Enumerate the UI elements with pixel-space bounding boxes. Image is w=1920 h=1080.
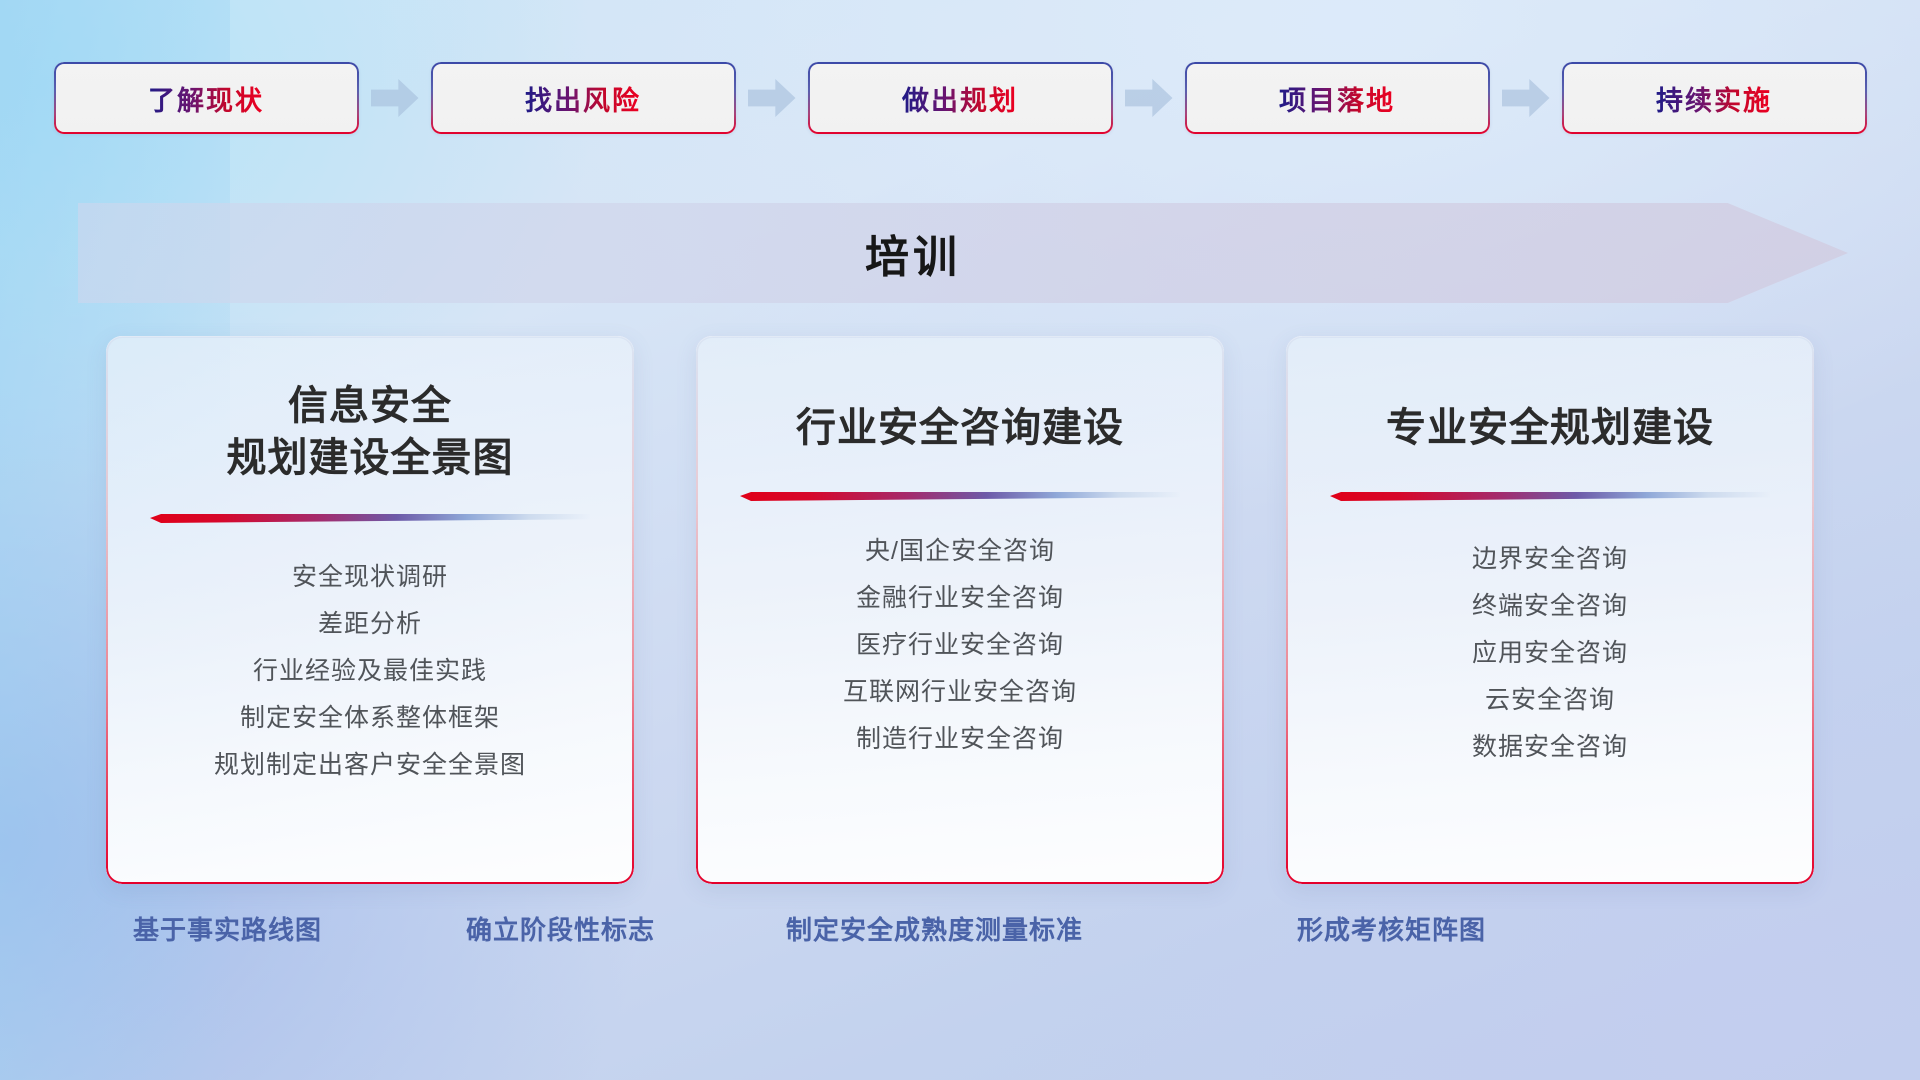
card-divider: [740, 492, 1180, 501]
card-item-list: 安全现状调研 差距分析 行业经验及最佳实践 制定安全体系整体框架 规划制定出客户…: [214, 557, 526, 781]
list-item: 央/国企安全咨询: [865, 531, 1055, 567]
card-item-list: 央/国企安全咨询 金融行业安全咨询 医疗行业安全咨询 互联网行业安全咨询 制造行…: [843, 531, 1077, 755]
arrow-right-icon: [371, 79, 419, 117]
arrow-right-icon: [748, 79, 796, 117]
list-item: 云安全咨询: [1485, 680, 1615, 716]
process-step-label: 持续实施: [1656, 79, 1772, 118]
list-item: 行业经验及最佳实践: [253, 651, 487, 687]
card-title: 行业安全咨询建设: [796, 402, 1124, 454]
card-title: 专业安全规划建设: [1386, 402, 1714, 454]
list-item: 差距分析: [318, 604, 422, 640]
card-group: 信息安全 规划建设全景图 安全现状调研 差距分析 行业经验及最佳实践 制定安全体…: [0, 336, 1920, 884]
content-card-2[interactable]: 行业安全咨询建设 央/国企安全咨询 金融行业安全咨询 医疗行业安全咨询 互联网行…: [696, 336, 1224, 884]
footer-caption: 基于事实路线图: [133, 910, 322, 947]
content-card-1[interactable]: 信息安全 规划建设全景图 安全现状调研 差距分析 行业经验及最佳实践 制定安全体…: [106, 336, 634, 884]
slide-canvas: 了解现状 找出风险 做出规划 项目落地 持续实施 培训 信息安全 规划建设全景图…: [0, 0, 1920, 1080]
list-item: 边界安全咨询: [1472, 539, 1628, 575]
card-item-list: 边界安全咨询 终端安全咨询 应用安全咨询 云安全咨询 数据安全咨询: [1472, 539, 1628, 763]
list-item: 安全现状调研: [292, 557, 448, 593]
list-item: 数据安全咨询: [1472, 727, 1628, 763]
arrow-right-icon: [1502, 79, 1550, 117]
process-step-label: 找出风险: [525, 79, 641, 118]
footer-caption: 确立阶段性标志: [466, 910, 655, 947]
process-step-label: 了解现状: [148, 79, 264, 118]
list-item: 互联网行业安全咨询: [843, 672, 1077, 708]
list-item: 金融行业安全咨询: [856, 578, 1064, 614]
footer-caption: 形成考核矩阵图: [1297, 910, 1486, 947]
process-step-strip: 了解现状 找出风险 做出规划 项目落地 持续实施: [0, 58, 1920, 138]
list-item: 医疗行业安全咨询: [856, 625, 1064, 661]
list-item: 终端安全咨询: [1472, 586, 1628, 622]
process-step-1[interactable]: 了解现状: [54, 62, 359, 134]
arrow-right-icon: [1125, 79, 1173, 117]
training-banner: 培训: [78, 203, 1848, 303]
card-divider: [150, 514, 590, 523]
list-item: 应用安全咨询: [1472, 633, 1628, 669]
list-item: 规划制定出客户安全全景图: [214, 745, 526, 781]
card-title: 信息安全 规划建设全景图: [227, 380, 514, 484]
process-step-2[interactable]: 找出风险: [431, 62, 736, 134]
footer-caption: 制定安全成熟度测量标准: [786, 910, 1083, 947]
list-item: 制定安全体系整体框架: [240, 698, 500, 734]
process-step-5[interactable]: 持续实施: [1562, 62, 1867, 134]
process-step-4[interactable]: 项目落地: [1185, 62, 1490, 134]
process-step-label: 项目落地: [1279, 79, 1395, 118]
list-item: 制造行业安全咨询: [856, 719, 1064, 755]
footer-caption-row: 基于事实路线图 确立阶段性标志 制定安全成熟度测量标准 形成考核矩阵图: [0, 910, 1920, 960]
card-divider: [1330, 492, 1770, 501]
content-card-3[interactable]: 专业安全规划建设 边界安全咨询 终端安全咨询 应用安全咨询 云安全咨询 数据安全…: [1286, 336, 1814, 884]
process-step-3[interactable]: 做出规划: [808, 62, 1113, 134]
banner-title: 培训: [865, 221, 961, 285]
process-step-label: 做出规划: [902, 79, 1018, 118]
